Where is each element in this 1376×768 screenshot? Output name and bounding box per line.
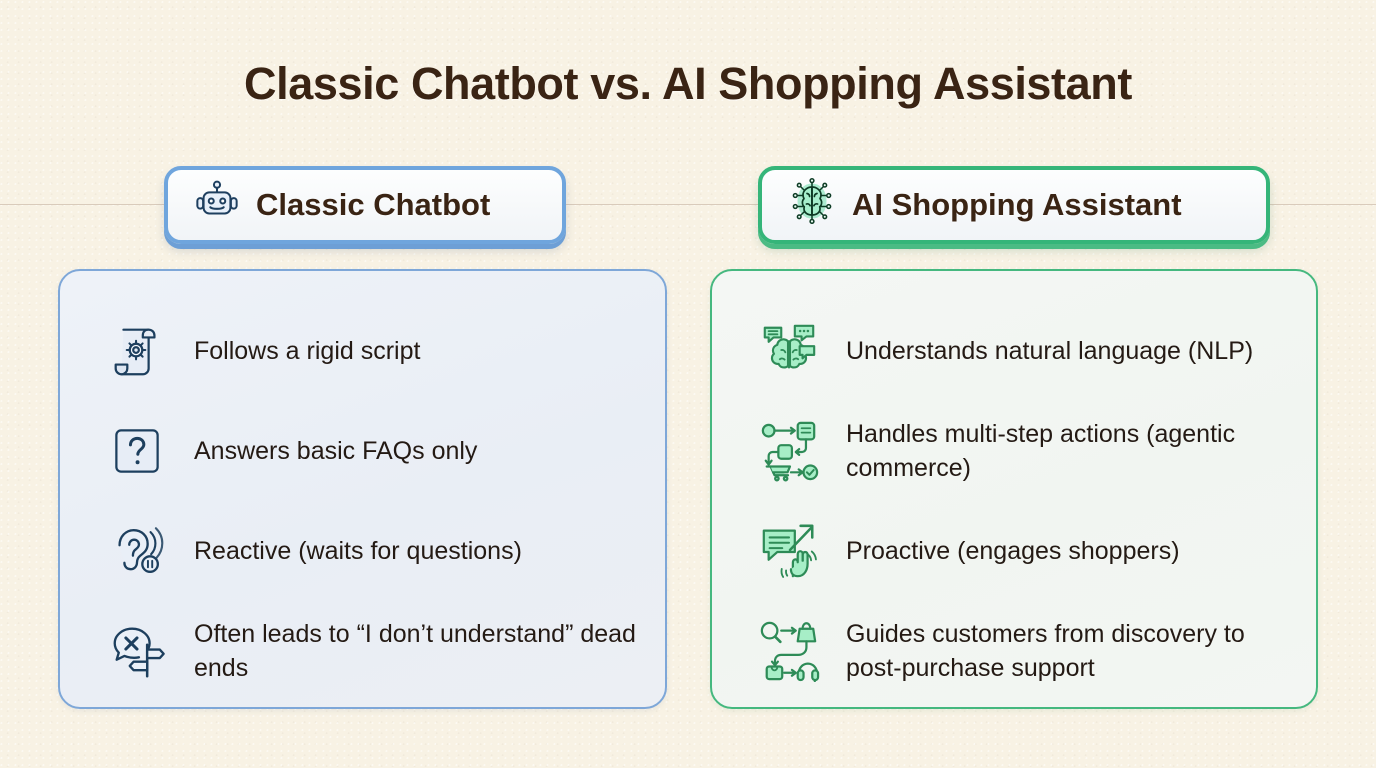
robot-icon (194, 178, 240, 232)
list-item: Follows a rigid script (102, 301, 637, 401)
list-item-label: Guides customers from discovery to post-… (846, 617, 1288, 685)
list-item-label: Answers basic FAQs only (194, 434, 477, 468)
ai-feature-list: Understands natural language (NLP) (754, 301, 1288, 701)
badge-classic-label: Classic Chatbot (256, 187, 490, 223)
panel-classic-chatbot: Follows a rigid script Answers basic FAQ… (58, 269, 667, 709)
list-item-label: Understands natural language (NLP) (846, 334, 1253, 368)
list-item: Often leads to “I don’t understand” dead… (102, 601, 637, 701)
ear-pause-icon (102, 516, 172, 586)
list-item: Handles multi-step actions (agentic comm… (754, 401, 1288, 501)
brain-chat-icon (754, 316, 824, 386)
workflow-cart-icon (754, 416, 824, 486)
badge-ai-shopping-assistant[interactable]: AI Shopping Assistant (758, 166, 1270, 244)
list-item-label: Often leads to “I don’t understand” dead… (194, 617, 637, 685)
list-item-label: Handles multi-step actions (agentic comm… (846, 417, 1288, 485)
badge-ai-label: AI Shopping Assistant (852, 187, 1182, 223)
panel-ai-shopping-assistant: Understands natural language (NLP) (710, 269, 1318, 709)
chat-x-signpost-icon (102, 616, 172, 686)
list-item: Proactive (engages shoppers) (754, 501, 1288, 601)
page-title: Classic Chatbot vs. AI Shopping Assistan… (0, 58, 1376, 110)
list-item-label: Reactive (waits for questions) (194, 534, 522, 568)
list-item-label: Proactive (engages shoppers) (846, 534, 1180, 568)
chat-growth-wave-icon (754, 516, 824, 586)
question-box-icon (102, 416, 172, 486)
list-item-label: Follows a rigid script (194, 334, 420, 368)
list-item: Guides customers from discovery to post-… (754, 601, 1288, 701)
scroll-gear-icon (102, 316, 172, 386)
badge-classic-chatbot[interactable]: Classic Chatbot (164, 166, 566, 244)
classic-feature-list: Follows a rigid script Answers basic FAQ… (102, 301, 637, 701)
list-item: Understands natural language (NLP) (754, 301, 1288, 401)
list-item: Answers basic FAQs only (102, 401, 637, 501)
list-item: Reactive (waits for questions) (102, 501, 637, 601)
search-bag-support-icon (754, 616, 824, 686)
ai-brain-chip-icon (788, 177, 836, 233)
